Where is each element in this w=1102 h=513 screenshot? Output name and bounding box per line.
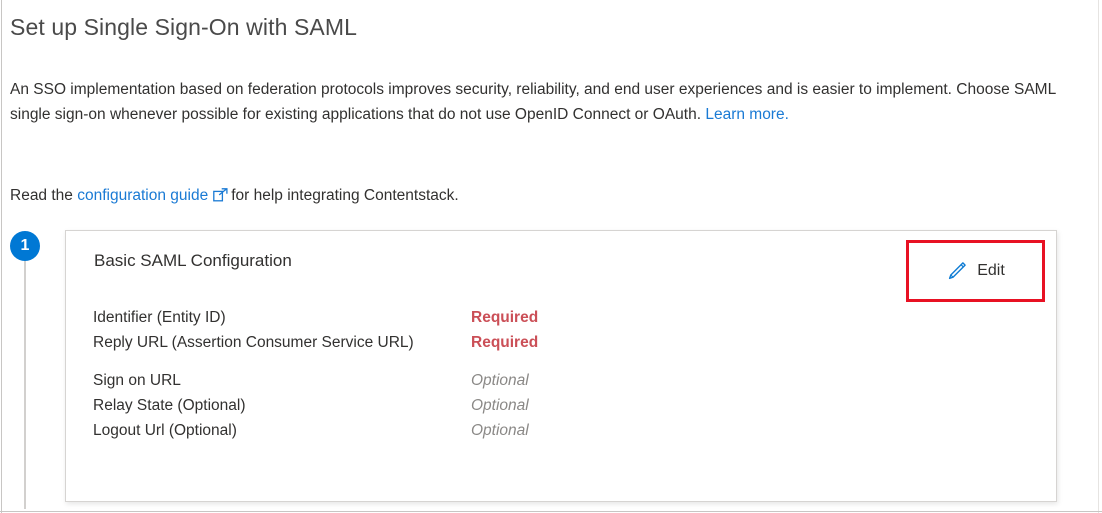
pencil-icon <box>946 260 968 282</box>
step-number-badge: 1 <box>10 231 40 261</box>
field-label: Logout Url (Optional) <box>93 418 471 443</box>
field-label: Identifier (Entity ID) <box>93 305 471 330</box>
external-link-icon[interactable] <box>213 186 228 200</box>
configuration-guide-line: Read the configuration guide for help in… <box>10 184 459 208</box>
field-row-reply-url: Reply URL (Assertion Consumer Service UR… <box>93 330 563 355</box>
field-row-sign-on-url: Sign on URL Optional <box>93 368 563 393</box>
edit-button[interactable]: Edit <box>909 243 1042 299</box>
page-bottom-divider <box>0 511 1102 512</box>
field-row-identifier: Identifier (Entity ID) Required <box>93 305 563 330</box>
edit-button-label: Edit <box>977 262 1005 280</box>
field-group-spacer <box>93 355 563 368</box>
field-value-status: Required <box>471 330 538 355</box>
field-row-relay-state: Relay State (Optional) Optional <box>93 393 563 418</box>
page-right-divider <box>1098 0 1099 513</box>
field-row-logout-url: Logout Url (Optional) Optional <box>93 418 563 443</box>
card-title: Basic SAML Configuration <box>94 251 292 271</box>
field-label: Sign on URL <box>93 368 471 393</box>
field-label: Relay State (Optional) <box>93 393 471 418</box>
intro-text: An SSO implementation based on federatio… <box>10 81 1056 123</box>
page-title: Set up Single Sign-On with SAML <box>10 14 357 41</box>
guide-prefix-text: Read the <box>10 187 77 204</box>
learn-more-link[interactable]: Learn more. <box>705 106 789 123</box>
field-value-status: Required <box>471 305 538 330</box>
field-value-status: Optional <box>471 418 529 443</box>
intro-paragraph: An SSO implementation based on federatio… <box>10 77 1090 127</box>
page-left-divider <box>1 0 2 513</box>
saml-fields-list: Identifier (Entity ID) Required Reply UR… <box>93 305 563 443</box>
field-value-status: Optional <box>471 368 529 393</box>
field-label: Reply URL (Assertion Consumer Service UR… <box>93 330 471 355</box>
sso-setup-page: Set up Single Sign-On with SAML An SSO i… <box>0 0 1102 513</box>
configuration-guide-link[interactable]: configuration guide <box>77 187 208 204</box>
guide-suffix-text: for help integrating Contentstack. <box>231 187 458 204</box>
step-connector-line <box>24 261 26 509</box>
field-value-status: Optional <box>471 393 529 418</box>
